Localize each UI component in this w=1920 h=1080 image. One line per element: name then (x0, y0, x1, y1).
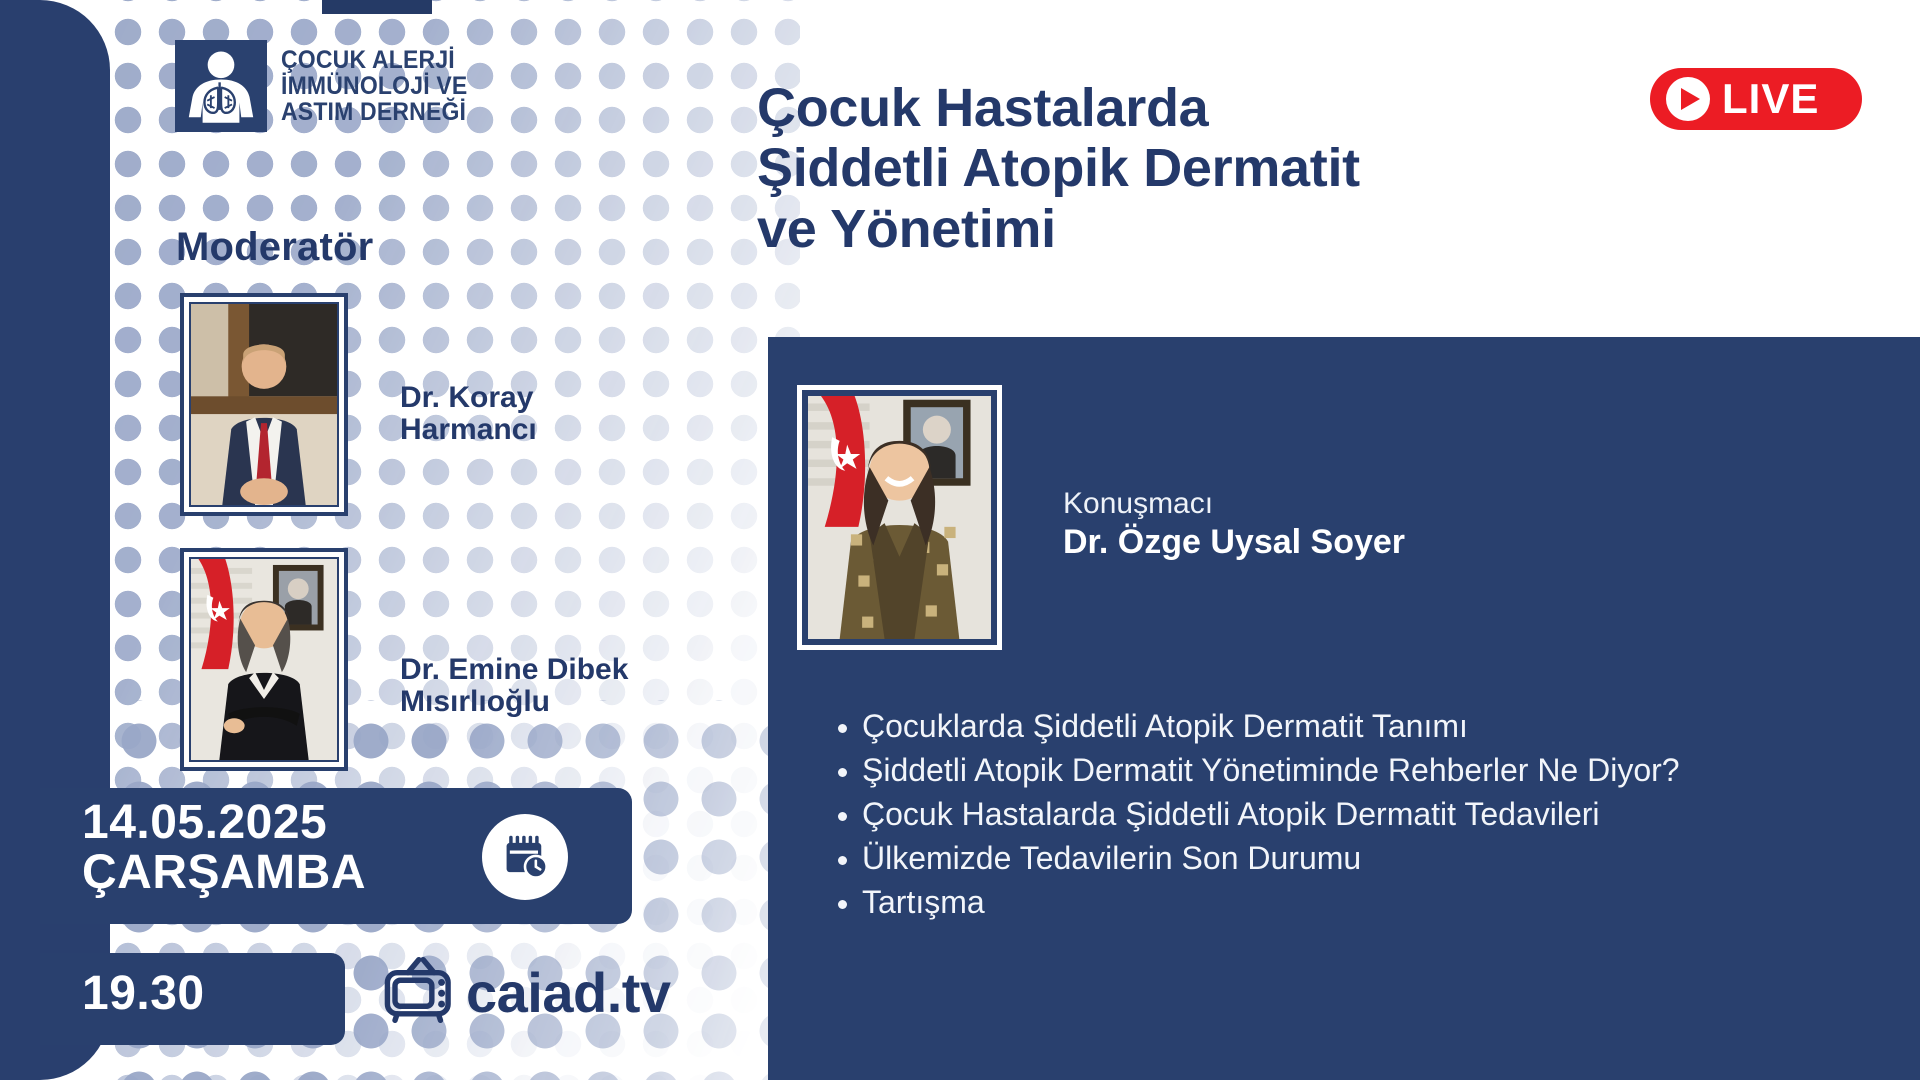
live-label: LIVE (1722, 78, 1819, 120)
agenda-item: Çocuklarda Şiddetli Atopik Dermatit Tanı… (862, 706, 1870, 747)
moderator-name-2: Dr. Emine Dibek Mısırlıoğlu (400, 654, 700, 718)
agenda-item: Tartışma (862, 882, 1870, 923)
calendar-clock-icon (482, 814, 568, 900)
moderator-photo-2 (180, 548, 348, 771)
live-badge[interactable]: LIVE (1650, 68, 1862, 130)
agenda-item: Şiddetli Atopik Dermatit Yönetiminde Reh… (862, 750, 1870, 791)
agenda-item: Çocuk Hastalarda Şiddetli Atopik Dermati… (862, 794, 1870, 835)
event-time: 19.30 (82, 966, 205, 1021)
poster-canvas: ÇOCUK ALERJİ İMMÜNOLOJİ VE ASTIM DERNEĞİ… (0, 0, 1920, 1080)
speaker-role-label: Konuşmacı (1063, 487, 1213, 521)
top-accent-tab (322, 0, 432, 14)
moderator-name-1: Dr. Koray Harmancı (400, 382, 660, 446)
event-date: 14.05.2025 ÇARŞAMBA (82, 798, 366, 899)
page-title: Çocuk Hastalarda Şiddetli Atopik Dermati… (757, 78, 1577, 259)
television-icon (382, 955, 460, 1030)
moderator-photo-1 (180, 293, 348, 516)
channel-name: caiad.tv (466, 960, 671, 1025)
person-lungs-logo-icon (175, 40, 267, 132)
speaker-photo (797, 385, 1002, 650)
speaker-name: Dr. Özge Uysal Soyer (1063, 523, 1405, 562)
association-name: ÇOCUK ALERJİ İMMÜNOLOJİ VE ASTIM DERNEĞİ (281, 47, 467, 125)
agenda-item: Ülkemizde Tedavilerin Son Durumu (862, 838, 1870, 879)
moderator-section-label: Moderatör (176, 225, 373, 270)
association-logo: ÇOCUK ALERJİ İMMÜNOLOJİ VE ASTIM DERNEĞİ (175, 40, 484, 132)
play-icon (1666, 77, 1710, 121)
agenda-list: Çocuklarda Şiddetli Atopik Dermatit Tanı… (820, 706, 1870, 926)
channel-row[interactable]: caiad.tv (382, 955, 671, 1030)
